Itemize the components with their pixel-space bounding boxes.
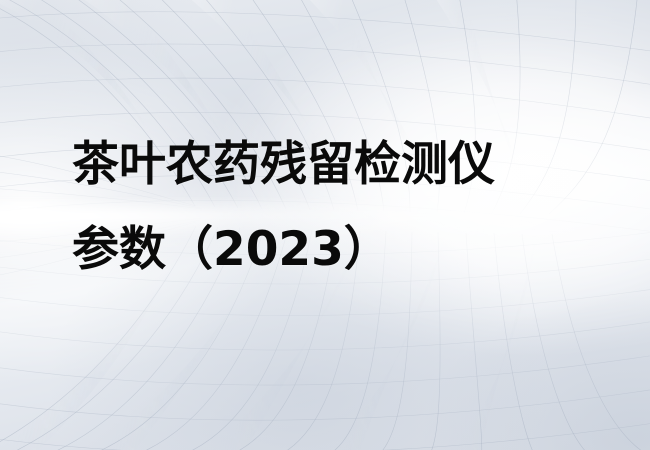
page-title: 茶叶农药残留检测仪 参数（2023）	[72, 122, 632, 292]
title-banner: 茶叶农药残留检测仪 参数（2023）	[0, 0, 650, 450]
title-line-1: 茶叶农药残留检测仪	[72, 122, 632, 207]
title-line-2: 参数（2023）	[72, 207, 632, 292]
